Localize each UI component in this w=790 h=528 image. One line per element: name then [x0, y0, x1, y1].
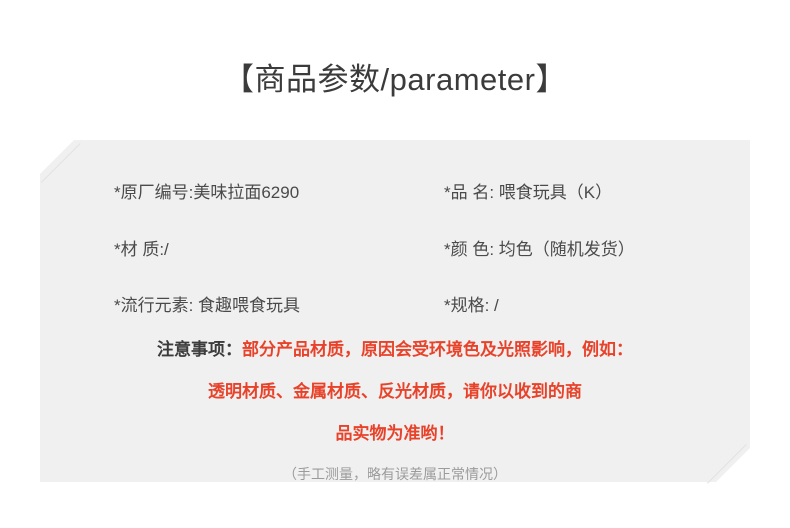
notice-line-2: 透明材质、金属材质、反光材质，请你以收到的商 — [0, 379, 790, 405]
notice-line-1: 注意事项：部分产品材质，原因会受环境色及光照影响，例如： — [0, 337, 790, 363]
notice-text-1: 部分产品材质，原因会受环境色及光照影响，例如： — [242, 340, 633, 359]
notice-line-3: 品实物为准哟！ — [0, 421, 790, 447]
table-row: *材 质:/ *颜 色: 均色（随机发货） — [0, 237, 790, 263]
measurement-footnote: （手工测量，略有误差属正常情况） — [0, 463, 790, 485]
param-color: *颜 色: 均色（随机发货） — [444, 237, 635, 263]
param-factory-code: *原厂编号:美味拉面6290 — [114, 180, 299, 206]
table-row: *原厂编号:美味拉面6290 *品 名: 喂食玩具（K） — [0, 180, 790, 206]
param-specification: *规格: / — [444, 293, 499, 319]
param-material: *材 质:/ — [114, 237, 169, 263]
param-product-name: *品 名: 喂食玩具（K） — [444, 180, 612, 206]
page-title: 【商品参数/parameter】 — [0, 58, 790, 102]
table-row: *流行元素: 食趣喂食玩具 *规格: / — [0, 293, 790, 319]
notice-label: 注意事项： — [157, 340, 242, 359]
param-trend-element: *流行元素: 食趣喂食玩具 — [114, 293, 300, 319]
page-title-text: 【商品参数/parameter】 — [0, 58, 790, 102]
